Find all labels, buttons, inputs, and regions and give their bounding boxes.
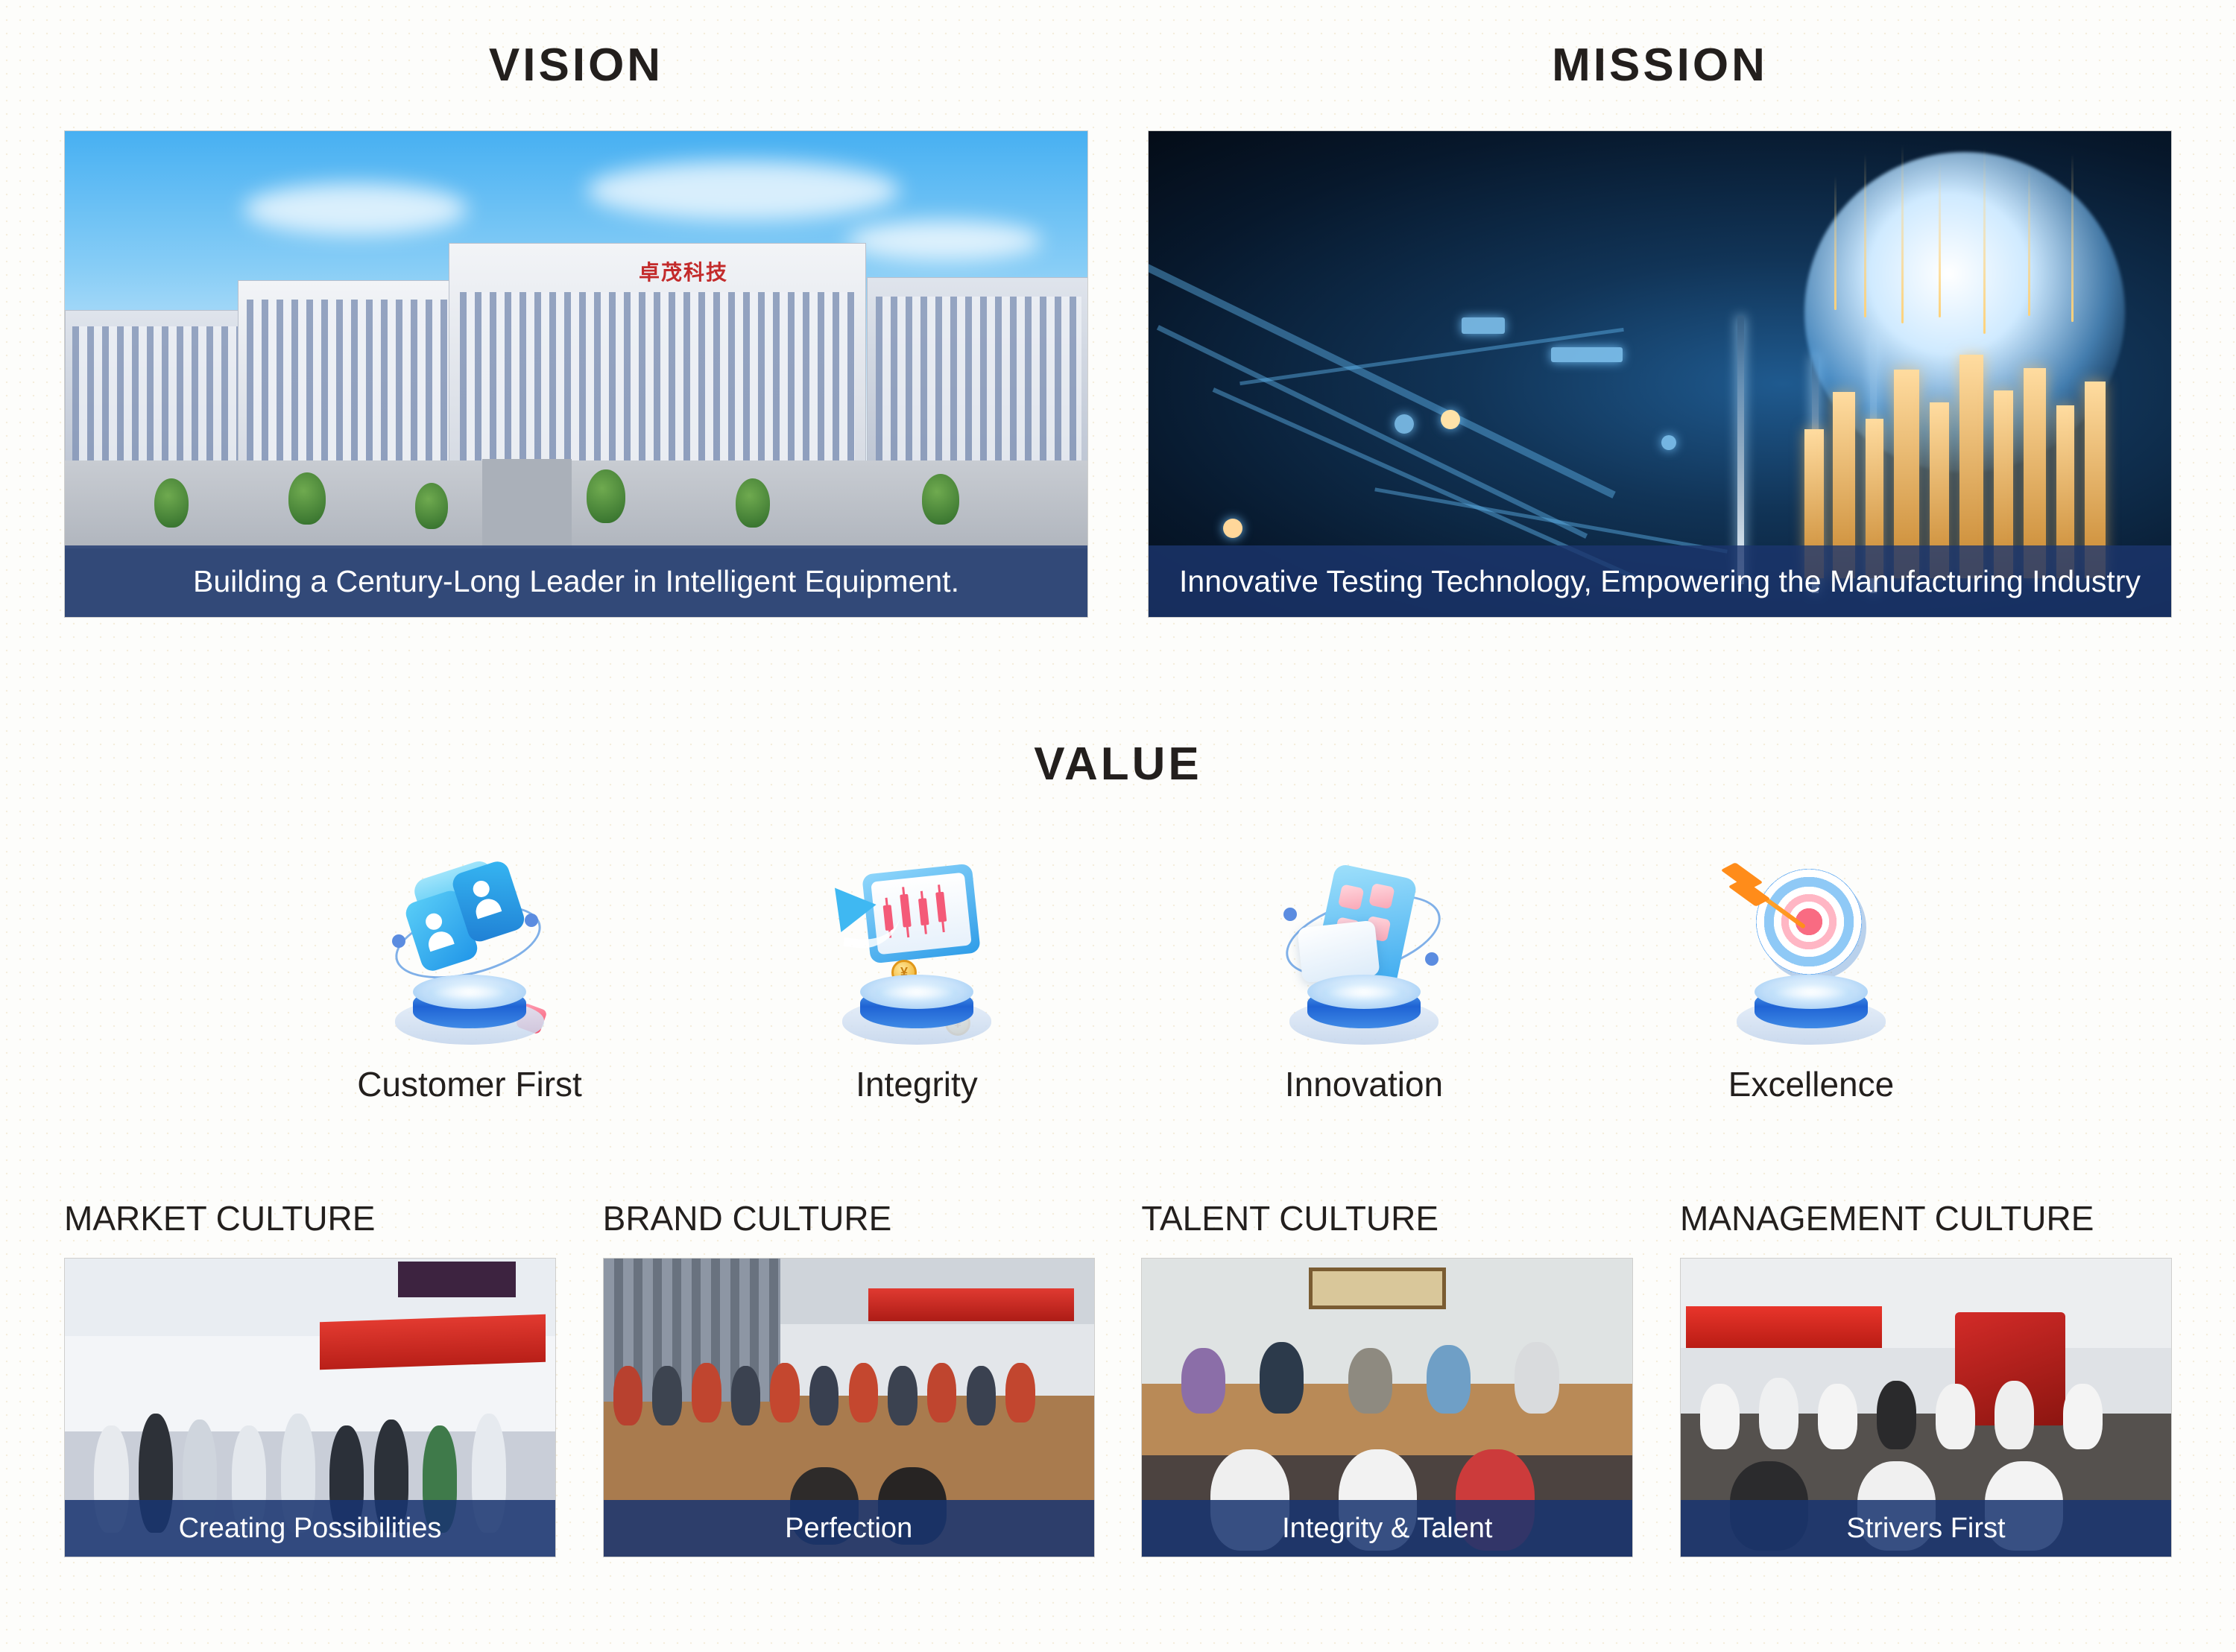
talent-culture-caption: Integrity & Talent	[1142, 1500, 1632, 1557]
management-culture-caption: Strivers First	[1681, 1500, 2171, 1557]
market-culture-photo[interactable]: Creating Possibilities	[64, 1258, 556, 1557]
chart-screen-coins-podium-icon: ¥ ¥	[820, 864, 1014, 1051]
headquarters-campus-illustration: 卓茂科技	[65, 131, 1087, 617]
culture-title: BRAND CULTURE	[603, 1198, 1095, 1238]
mission-caption: Innovative Testing Technology, Empowerin…	[1149, 545, 2171, 617]
tablet-orbit-podium-icon	[1267, 864, 1461, 1051]
cube-people-podium-icon	[373, 864, 566, 1051]
mission-photo[interactable]: Innovative Testing Technology, Empowerin…	[1148, 130, 2172, 618]
vision-card: VISION 卓茂科技	[64, 39, 1088, 618]
value-label: Excellence	[1728, 1064, 1894, 1104]
talent-culture-photo[interactable]: Integrity & Talent	[1141, 1258, 1633, 1557]
building-logo: 卓茂科技	[639, 256, 728, 286]
value-item-excellence[interactable]: Excellence	[1588, 864, 2035, 1104]
management-culture-photo[interactable]: Strivers First	[1680, 1258, 2172, 1557]
culture-item-brand[interactable]: BRAND CULTURE Perfection	[603, 1198, 1095, 1557]
vision-caption: Building a Century-Long Leader in Intell…	[65, 545, 1087, 617]
technology-circuit-illustration	[1149, 131, 2171, 617]
brand-culture-caption: Perfection	[604, 1500, 1094, 1557]
brand-culture-photo[interactable]: Perfection	[603, 1258, 1095, 1557]
mission-heading: MISSION	[1148, 39, 2172, 92]
value-heading: VALUE	[0, 738, 2236, 791]
culture-title: TALENT CULTURE	[1141, 1198, 1633, 1238]
value-item-innovation[interactable]: Innovation	[1140, 864, 1588, 1104]
value-item-customer-first[interactable]: Customer First	[246, 864, 693, 1104]
culture-title: MARKET CULTURE	[64, 1198, 556, 1238]
mission-card: MISSION	[1148, 39, 2172, 618]
value-label: Integrity	[856, 1064, 978, 1104]
vision-photo[interactable]: 卓茂科技 Building a Century-Long Leader in I…	[64, 130, 1088, 618]
target-arrow-podium-icon	[1714, 864, 1908, 1051]
vision-heading: VISION	[64, 39, 1088, 92]
value-label: Innovation	[1285, 1064, 1443, 1104]
market-culture-caption: Creating Possibilities	[65, 1500, 555, 1557]
value-item-integrity[interactable]: ¥ ¥ Integrity	[693, 864, 1140, 1104]
vision-mission-row: VISION 卓茂科技	[64, 39, 2172, 618]
culture-item-talent[interactable]: TALENT CULTURE Integrity & Talent	[1141, 1198, 1633, 1557]
culture-item-management[interactable]: MANAGEMENT CULTURE Strivers First	[1680, 1198, 2172, 1557]
value-items-row: Customer First ¥ ¥ Inte	[246, 864, 2035, 1104]
culture-title: MANAGEMENT CULTURE	[1680, 1198, 2172, 1238]
culture-row: MARKET CULTURE Creating Possibilities BR…	[64, 1198, 2172, 1557]
value-label: Customer First	[357, 1064, 582, 1104]
culture-item-market[interactable]: MARKET CULTURE Creating Possibilities	[64, 1198, 556, 1557]
